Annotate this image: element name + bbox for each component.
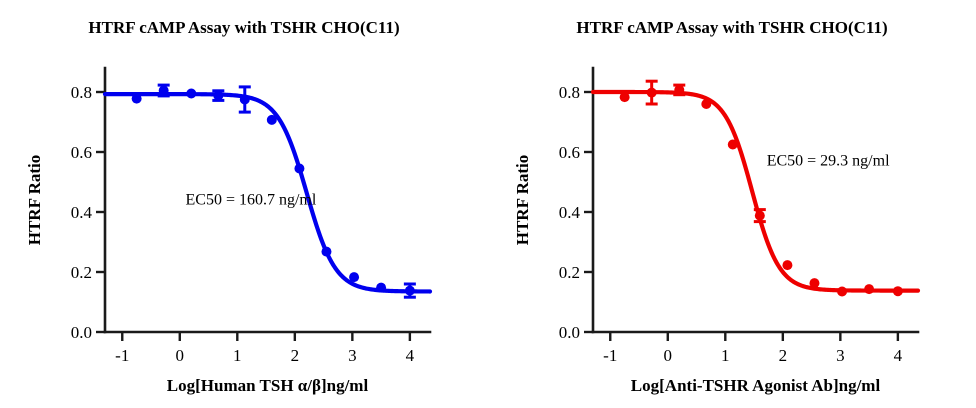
y-tick-label-right-2: 0.4	[559, 203, 581, 222]
data-point-right-7	[809, 278, 819, 288]
data-point-right-8	[837, 287, 847, 297]
data-point-right-9	[864, 284, 874, 294]
x-tick-label-right-2: 1	[721, 346, 730, 365]
data-point-left-4	[240, 95, 250, 105]
data-point-left-1	[159, 86, 169, 96]
data-point-left-7	[321, 247, 331, 257]
x-tick-label-right-5: 4	[894, 346, 903, 365]
data-point-left-2	[186, 89, 196, 99]
y-tick-label-right-4: 0.8	[559, 83, 580, 102]
x-tick-label-left-5: 4	[406, 346, 415, 365]
y-tick-label-left-4: 0.8	[71, 83, 92, 102]
x-tick-label-left-3: 2	[291, 346, 300, 365]
data-point-right-0	[620, 92, 630, 102]
chart-svg-left: HTRF cAMP Assay with TSHR CHO(C11)0.00.2…	[0, 0, 488, 408]
y-tick-label-right-1: 0.2	[559, 263, 580, 282]
ec50-annotation-left: EC50 = 160.7 ng/ml	[186, 192, 317, 209]
data-point-left-10	[405, 286, 415, 296]
data-point-right-2	[674, 85, 684, 95]
y-tick-label-left-1: 0.2	[71, 263, 92, 282]
x-tick-label-left-4: 3	[348, 346, 357, 365]
y-tick-label-right-0: 0.0	[559, 323, 580, 342]
figure-container: HTRF cAMP Assay with TSHR CHO(C11)0.00.2…	[0, 0, 976, 408]
data-point-right-1	[647, 88, 657, 98]
y-axis-title-left: HTRF Ratio	[25, 155, 44, 246]
y-tick-label-right-3: 0.6	[559, 143, 580, 162]
chart-title-left: HTRF cAMP Assay with TSHR CHO(C11)	[88, 18, 399, 37]
chart-panel-left: HTRF cAMP Assay with TSHR CHO(C11)0.00.2…	[0, 0, 488, 408]
y-tick-label-left-3: 0.6	[71, 143, 92, 162]
x-tick-label-left-2: 1	[233, 346, 242, 365]
ec50-annotation-right: EC50 = 29.3 ng/ml	[767, 153, 890, 170]
data-point-right-5	[755, 211, 765, 221]
data-point-left-9	[376, 283, 386, 293]
data-point-left-5	[267, 115, 277, 125]
data-point-left-0	[132, 94, 142, 104]
y-axis-title-right: HTRF Ratio	[513, 155, 532, 246]
data-point-right-6	[782, 260, 792, 270]
chart-title-right: HTRF cAMP Assay with TSHR CHO(C11)	[576, 18, 887, 37]
x-tick-label-right-1: 0	[664, 346, 673, 365]
data-point-left-8	[349, 272, 359, 282]
x-tick-label-right-4: 3	[836, 346, 845, 365]
data-point-left-6	[294, 164, 304, 174]
chart-panel-right: HTRF cAMP Assay with TSHR CHO(C11)0.00.2…	[488, 0, 976, 408]
data-point-right-4	[728, 140, 738, 150]
y-tick-label-left-2: 0.4	[71, 203, 93, 222]
x-tick-label-left-1: 0	[176, 346, 185, 365]
y-tick-label-left-0: 0.0	[71, 323, 92, 342]
x-tick-label-left-0: -1	[115, 346, 129, 365]
x-tick-label-right-3: 2	[779, 346, 788, 365]
x-axis-title-right: Log[Anti-TSHR Agonist Ab]ng/ml	[631, 376, 881, 395]
data-point-right-10	[893, 286, 903, 296]
fit-curve-right	[593, 92, 918, 291]
data-point-right-3	[701, 99, 711, 109]
x-tick-label-right-0: -1	[603, 346, 617, 365]
x-axis-title-left: Log[Human TSH α/β]ng/ml	[167, 376, 369, 395]
chart-svg-right: HTRF cAMP Assay with TSHR CHO(C11)0.00.2…	[488, 0, 976, 408]
data-point-left-3	[213, 91, 223, 101]
